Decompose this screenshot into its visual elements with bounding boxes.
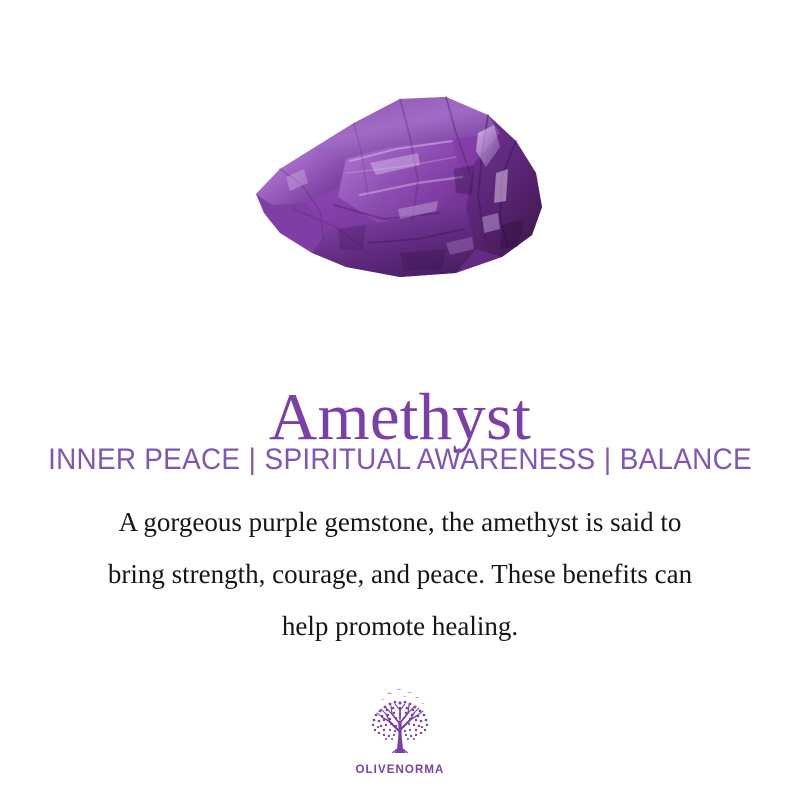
keyword-spiritual-awareness: SPIRITUAL AWARENESS <box>265 443 596 476</box>
keyword-balance: BALANCE <box>620 443 752 476</box>
keyword-separator-2: | <box>595 441 619 479</box>
amethyst-crystal-image <box>250 77 550 297</box>
brand-name: OLIVENORMA <box>356 764 445 776</box>
keyword-row: INNER PEACE|SPIRITUAL AWARENESS|BALANCE <box>28 441 772 479</box>
amethyst-crystal-icon <box>250 77 550 297</box>
keyword-inner-peace: INNER PEACE <box>48 443 240 476</box>
description-text: A gorgeous purple gemstone, the amethyst… <box>50 496 750 652</box>
description-line-1: A gorgeous purple gemstone, the amethyst… <box>50 496 750 548</box>
description-line-2: bring strength, courage, and peace. Thes… <box>50 548 750 600</box>
brand-logo: OLIVENORMA <box>0 686 800 776</box>
tree-logo-icon <box>357 686 443 762</box>
tree-birds <box>381 689 425 704</box>
description-line-3: help promote healing. <box>50 600 750 652</box>
tree-foliage <box>372 701 428 740</box>
tree-roots <box>392 749 408 753</box>
keyword-separator-1: | <box>240 441 264 479</box>
amethyst-info-card: Amethyst INNER PEACE|SPIRITUAL AWARENESS… <box>0 0 800 800</box>
gemstone-hero <box>0 62 800 312</box>
